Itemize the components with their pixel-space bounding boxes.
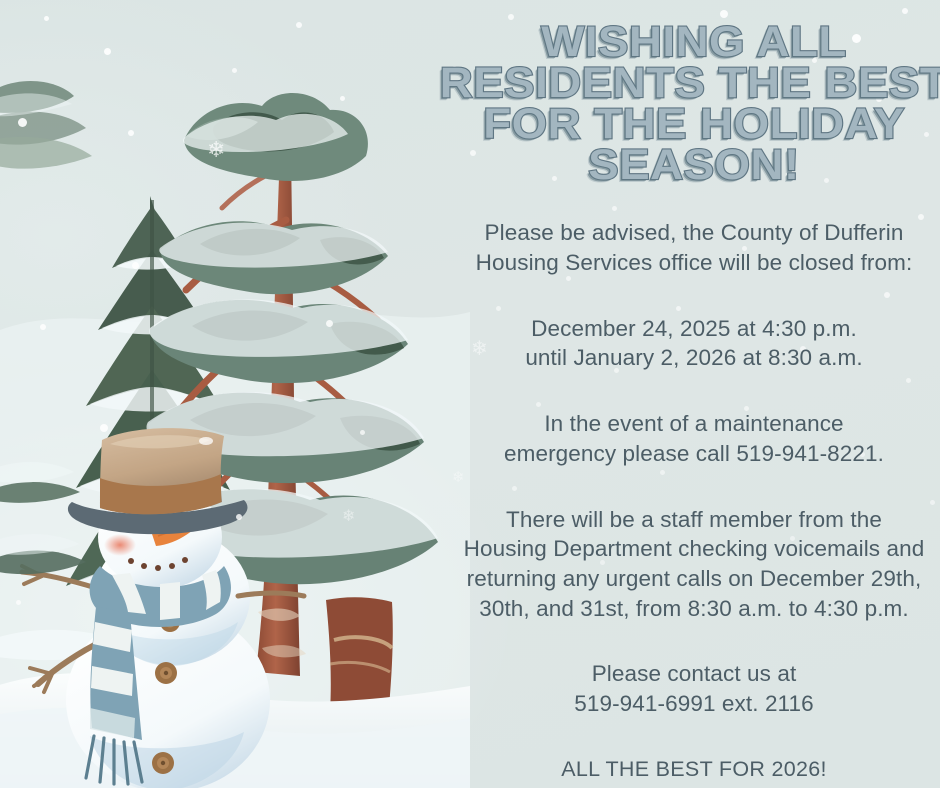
snowman-blush [104, 534, 136, 556]
intro-line-2: Housing Services office will be closed f… [448, 248, 940, 278]
paragraph-signoff: ALL THE BEST FOR 2026! [448, 755, 940, 783]
page-title: WISHING ALL RESIDENTS THE BEST FOR THE H… [433, 22, 940, 185]
paragraph-closure-dates: December 24, 2025 at 4:30 p.m. until Jan… [448, 314, 940, 373]
voicemail-line-1: There will be a staff member from the [448, 505, 940, 535]
voicemail-line-2: Housing Department checking voicemails a… [448, 534, 940, 564]
notice-body: Please be advised, the County of Dufferi… [448, 218, 940, 783]
voicemail-line-3: returning any urgent calls on December 2… [448, 564, 940, 594]
contact-phone: 519-941-6991 ext. 2116 [448, 689, 940, 719]
paragraph-intro: Please be advised, the County of Dufferi… [448, 218, 940, 277]
notice-text-column: WISHING ALL RESIDENTS THE BEST FOR THE H… [448, 0, 940, 788]
emergency-line-2: emergency please call 519-941-8221. [448, 439, 940, 469]
headline-line-4: SEASON! [437, 145, 940, 186]
headline-line-3: FOR THE HOLIDAY [437, 104, 940, 145]
voicemail-line-4: 30th, and 31st, from 8:30 a.m. to 4:30 p… [448, 594, 940, 624]
winter-illustration [0, 0, 470, 788]
intro-line-1: Please be advised, the County of Dufferi… [448, 218, 940, 248]
headline-line-1: WISHING ALL [437, 22, 940, 63]
contact-line-1: Please contact us at [448, 659, 940, 689]
tree-bough-left-top [0, 81, 92, 169]
headline-line-2: RESIDENTS THE BEST [437, 63, 940, 104]
closure-line-1: December 24, 2025 at 4:30 p.m. [448, 314, 940, 344]
paragraph-emergency: In the event of a maintenance emergency … [448, 409, 940, 468]
paragraph-contact: Please contact us at 519-941-6991 ext. 2… [448, 659, 940, 718]
paragraph-voicemail: There will be a staff member from the Ho… [448, 505, 940, 624]
closure-line-2: until January 2, 2026 at 8:30 a.m. [448, 343, 940, 373]
signoff-line-1: ALL THE BEST FOR 2026! [448, 755, 940, 783]
holiday-notice-poster: ❄ ❄ ❄ ❄ WISHING ALL RESIDENTS THE BEST F… [0, 0, 940, 788]
emergency-line-1: In the event of a maintenance [448, 409, 940, 439]
